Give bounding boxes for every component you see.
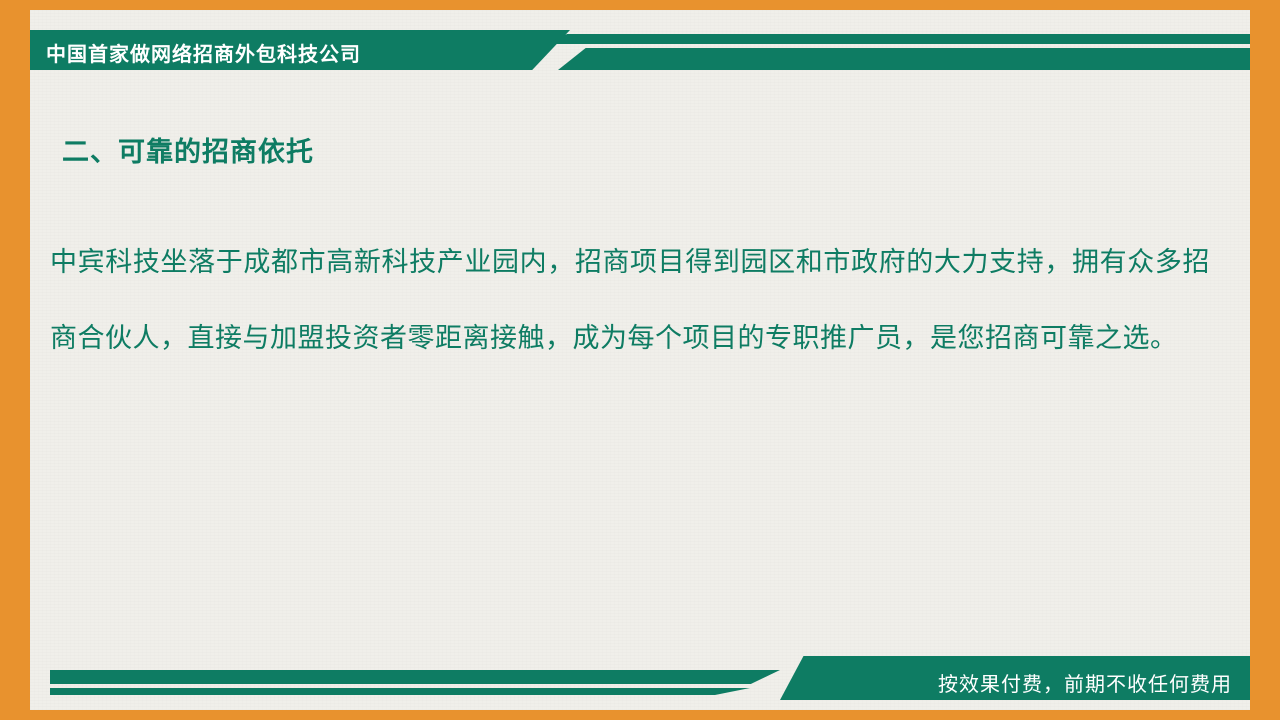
body-paragraph: 中宾科技坐落于成都市高新科技产业园内，招商项目得到园区和市政府的大力支持，拥有众… [50,225,1210,377]
footer-bar: 按效果付费，前期不收任何费用 [30,642,1250,700]
header-stripe-lower [558,48,1250,70]
slide-root: 中国首家做网络招商外包科技公司 二、可靠的招商依托 中宾科技坐落于成都市高新科技… [0,0,1280,720]
content-panel: 中国首家做网络招商外包科技公司 二、可靠的招商依托 中宾科技坐落于成都市高新科技… [30,10,1250,710]
header-stripe-upper [546,34,1250,44]
footer-stripe-lower [50,688,750,695]
footer-text: 按效果付费，前期不收任何费用 [938,668,1232,697]
header-bar: 中国首家做网络招商外包科技公司 [30,30,1250,72]
section-title: 二、可靠的招商依托 [62,130,314,169]
footer-stripe-upper [50,670,780,684]
header-title: 中国首家做网络招商外包科技公司 [46,38,361,67]
